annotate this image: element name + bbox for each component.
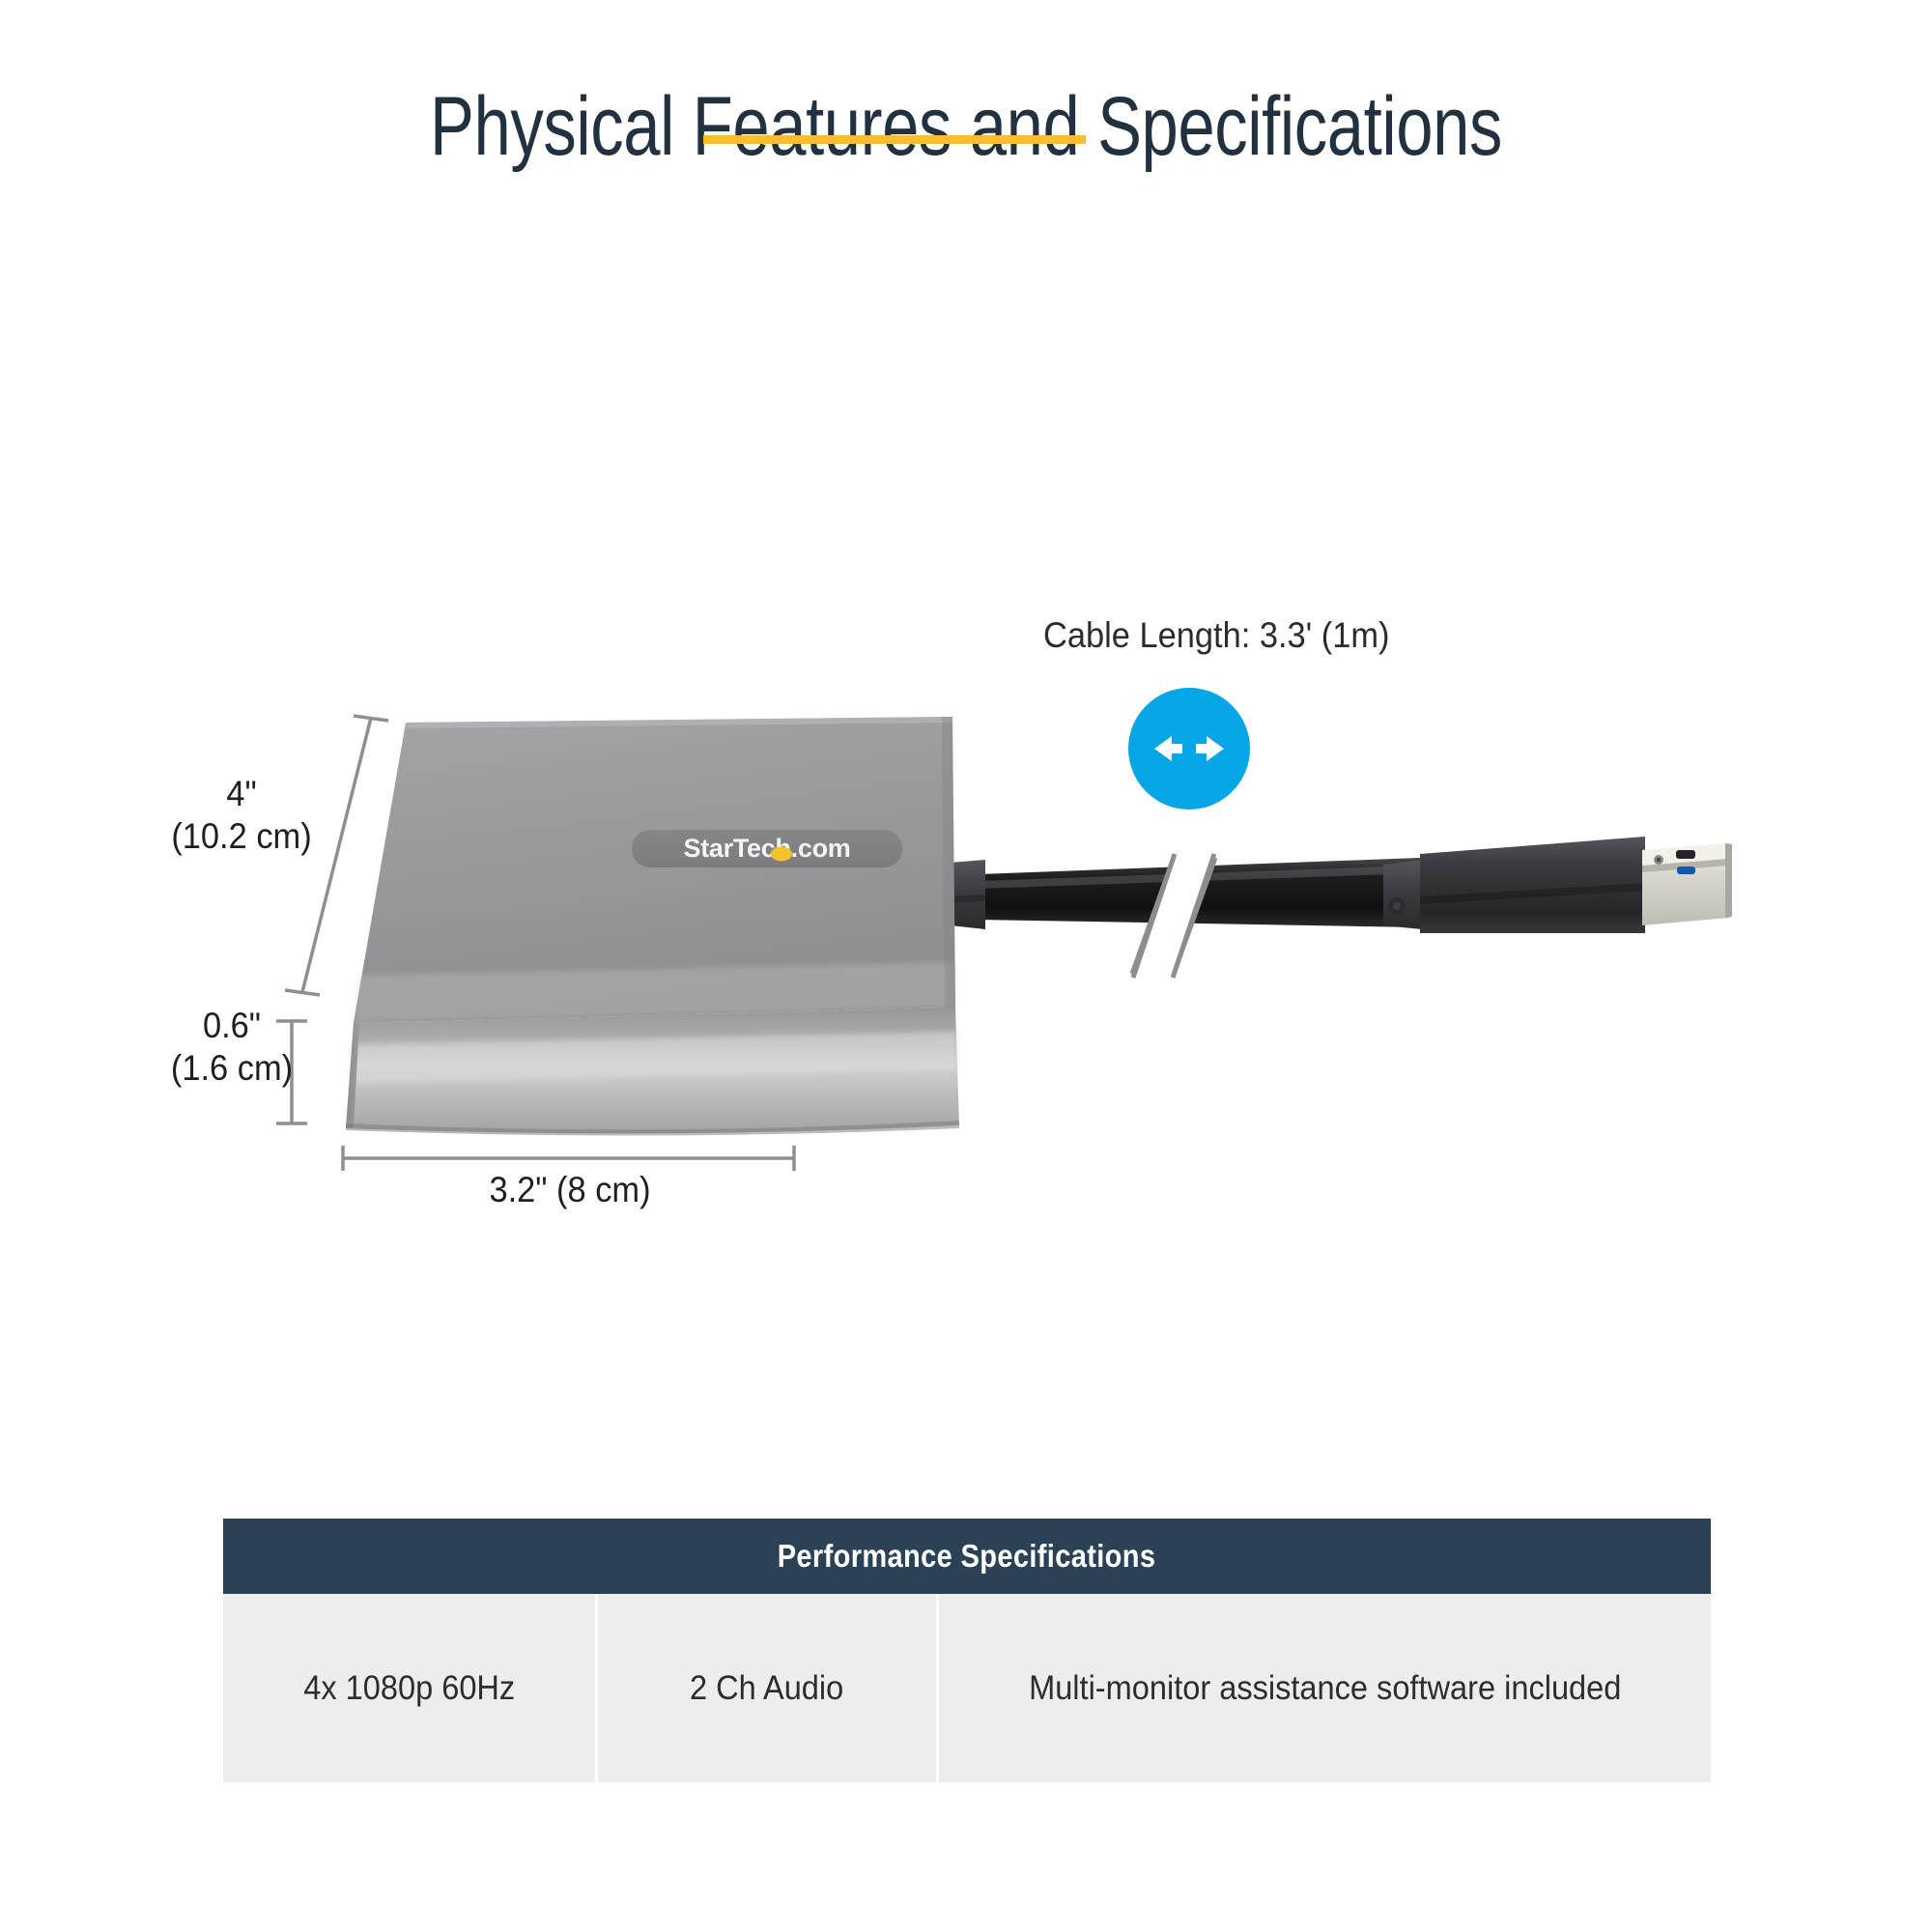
spec-cell-software-text: Multi-monitor assistance software includ… xyxy=(1029,1669,1621,1708)
adapter-body xyxy=(346,717,959,1136)
usb-a-connector xyxy=(1383,837,1732,933)
spec-cell-audio: 2 Ch Audio xyxy=(595,1594,936,1782)
dimension-label-height: 4" (10.2 cm) xyxy=(125,773,358,857)
dimension-width-value: 3.2" (8 cm) xyxy=(358,1169,781,1211)
spec-cell-audio-text: 2 Ch Audio xyxy=(690,1669,843,1708)
brand-logo-text: StarTech.com xyxy=(684,834,851,863)
brand-logo-dot xyxy=(771,847,792,862)
dimension-height-inches: 4" xyxy=(125,773,358,815)
dimension-height-metric: (10.2 cm) xyxy=(125,815,358,858)
spec-cell-resolution: 4x 1080p 60Hz xyxy=(223,1594,595,1782)
spec-cell-resolution-text: 4x 1080p 60Hz xyxy=(303,1669,515,1708)
spec-table-header-label: Performance Specifications xyxy=(778,1538,1156,1575)
cable-strain-relief xyxy=(950,860,985,929)
spec-cell-software: Multi-monitor assistance software includ… xyxy=(936,1594,1711,1782)
dimension-label-width: 3.2" (8 cm) xyxy=(358,1169,781,1211)
dimension-label-depth: 0.6" (1.6 cm) xyxy=(115,1005,349,1089)
dimension-line-width xyxy=(343,1146,794,1171)
spec-table-row: 4x 1080p 60Hz 2 Ch Audio Multi-monitor a… xyxy=(223,1594,1711,1782)
dimension-depth-inches: 0.6" xyxy=(115,1005,349,1047)
dimension-depth-metric: (1.6 cm) xyxy=(115,1047,349,1090)
spec-table-header: Performance Specifications xyxy=(223,1519,1711,1594)
brand-logo: StarTech.com xyxy=(632,830,902,867)
performance-specifications-table: Performance Specifications 4x 1080p 60Hz… xyxy=(223,1519,1711,1782)
